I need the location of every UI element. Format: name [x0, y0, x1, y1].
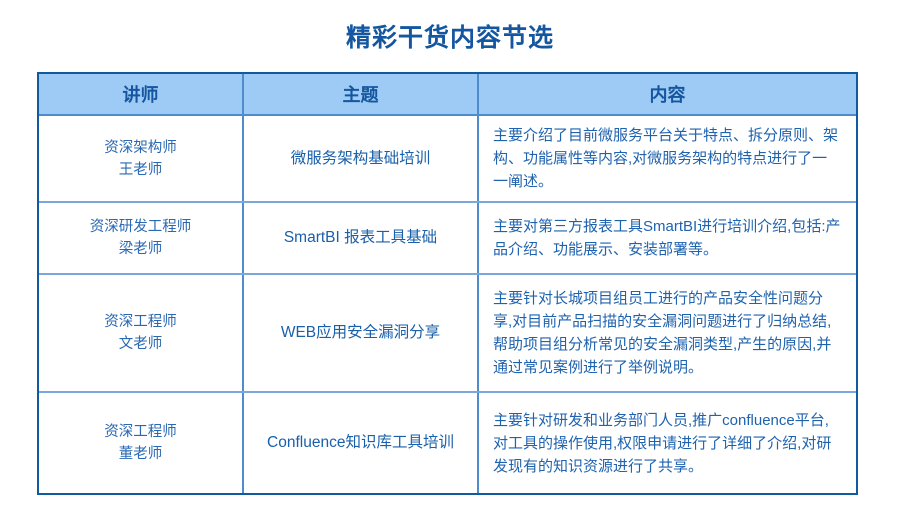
content-text: 主要针对研发和业务部门人员,推广confluence平台,对工具的操作使用,权限…	[493, 409, 842, 478]
column-header-content: 内容	[478, 74, 856, 115]
table-row: 资深研发工程师 梁老师 SmartBI 报表工具基础 主要对第三方报表工具Sma…	[39, 202, 856, 274]
teacher-title: 资深工程师	[39, 311, 242, 333]
teacher-name: 梁老师	[39, 238, 242, 260]
teacher-name: 董老师	[39, 443, 242, 465]
cell-teacher: 资深研发工程师 梁老师	[39, 202, 243, 274]
content-table-container: 讲师 主题 内容 资深架构师 王老师 微服务架构基础培训 主要介绍了目前微服务平…	[37, 72, 858, 495]
table-header: 讲师 主题 内容	[39, 74, 856, 115]
table-row: 资深工程师 董老师 Confluence知识库工具培训 主要针对研发和业务部门人…	[39, 392, 856, 493]
teacher-name: 王老师	[39, 159, 242, 181]
content-text: 主要针对长城项目组员工进行的产品安全性问题分享,对目前产品扫描的安全漏洞问题进行…	[493, 287, 842, 379]
cell-topic: SmartBI 报表工具基础	[243, 202, 478, 274]
cell-teacher: 资深架构师 王老师	[39, 115, 243, 202]
slide-page: 精彩干货内容节选 讲师 主题 内容 资深架构师 王老师	[0, 0, 900, 526]
cell-content: 主要针对研发和业务部门人员,推广confluence平台,对工具的操作使用,权限…	[478, 392, 856, 493]
cell-topic: 微服务架构基础培训	[243, 115, 478, 202]
teacher-title: 资深工程师	[39, 421, 242, 443]
teacher-title: 资深架构师	[39, 137, 242, 159]
content-table: 讲师 主题 内容 资深架构师 王老师 微服务架构基础培训 主要介绍了目前微服务平…	[39, 74, 856, 493]
table-body: 资深架构师 王老师 微服务架构基础培训 主要介绍了目前微服务平台关于特点、拆分原…	[39, 115, 856, 493]
column-header-topic: 主题	[243, 74, 478, 115]
cell-teacher: 资深工程师 董老师	[39, 392, 243, 493]
cell-teacher: 资深工程师 文老师	[39, 274, 243, 392]
page-title: 精彩干货内容节选	[0, 22, 900, 54]
table-header-row: 讲师 主题 内容	[39, 74, 856, 115]
teacher-name: 文老师	[39, 333, 242, 355]
table-row: 资深架构师 王老师 微服务架构基础培训 主要介绍了目前微服务平台关于特点、拆分原…	[39, 115, 856, 202]
content-text: 主要对第三方报表工具SmartBI进行培训介绍,包括:产品介绍、功能展示、安装部…	[493, 215, 842, 261]
column-header-teacher: 讲师	[39, 74, 243, 115]
cell-content: 主要针对长城项目组员工进行的产品安全性问题分享,对目前产品扫描的安全漏洞问题进行…	[478, 274, 856, 392]
teacher-title: 资深研发工程师	[39, 216, 242, 238]
cell-topic: Confluence知识库工具培训	[243, 392, 478, 493]
cell-content: 主要对第三方报表工具SmartBI进行培训介绍,包括:产品介绍、功能展示、安装部…	[478, 202, 856, 274]
cell-content: 主要介绍了目前微服务平台关于特点、拆分原则、架构、功能属性等内容,对微服务架构的…	[478, 115, 856, 202]
content-text: 主要介绍了目前微服务平台关于特点、拆分原则、架构、功能属性等内容,对微服务架构的…	[493, 124, 842, 193]
table-row: 资深工程师 文老师 WEB应用安全漏洞分享 主要针对长城项目组员工进行的产品安全…	[39, 274, 856, 392]
cell-topic: WEB应用安全漏洞分享	[243, 274, 478, 392]
